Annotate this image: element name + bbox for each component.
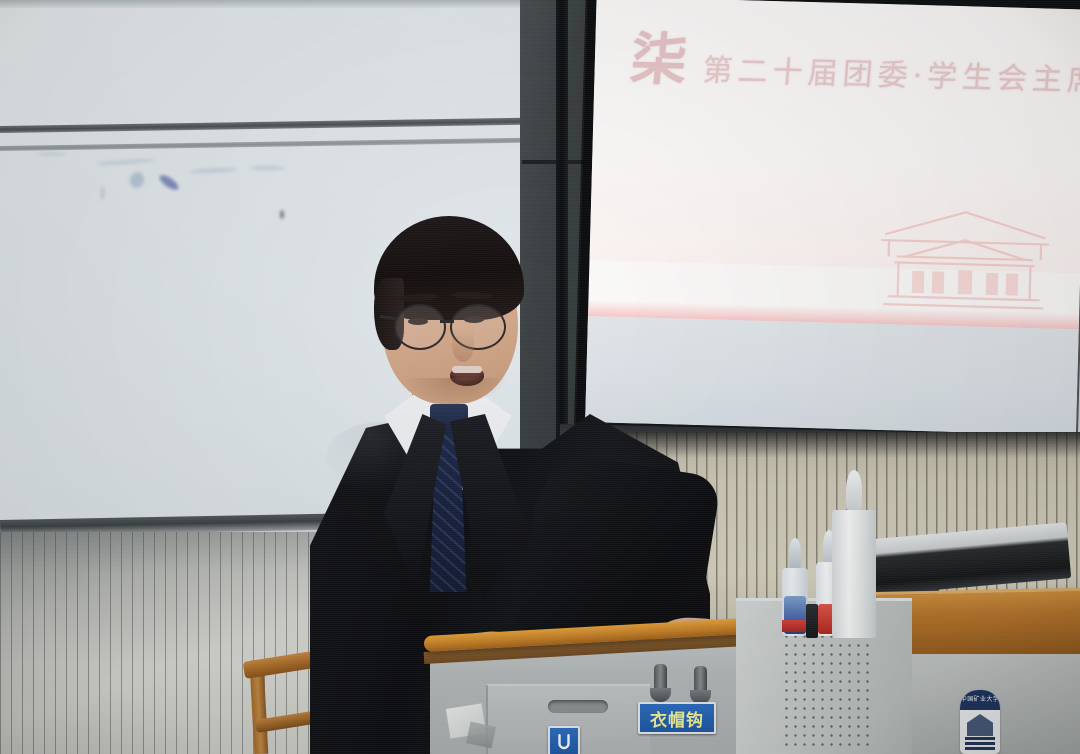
chair-back-post: [250, 666, 269, 754]
bottle-cap: [846, 470, 862, 510]
tall-white-bottle: [832, 474, 876, 638]
coat-hook-sign: 衣帽钩: [638, 702, 716, 734]
teeth: [452, 366, 482, 373]
bottle-label-band: [782, 620, 808, 632]
badge-gate-icon: [967, 714, 993, 736]
whiteboard-top-edge: [0, 0, 560, 8]
eyeglass-lens-left: [394, 304, 446, 350]
tiananmen-gate-icon: [873, 200, 1056, 325]
lectern-speaker-grill: [782, 632, 874, 752]
hook-pictogram-sign: [548, 726, 580, 754]
coat-hook-sign-label: 衣帽钩: [650, 706, 704, 731]
eyeglass-bridge: [440, 320, 454, 323]
nose: [452, 328, 474, 362]
marker-smudge: [100, 186, 105, 200]
dark-marker-pen: [806, 604, 818, 638]
bottle-body: [832, 510, 876, 638]
whiteboard-rail-lower: [0, 137, 560, 151]
marker-smudge: [96, 158, 156, 166]
marker-smudge: [190, 167, 238, 175]
slide-numeral: 柒: [628, 31, 691, 88]
badge-cap: 中国矿业大学: [960, 690, 1000, 710]
marker-smudge: [157, 173, 180, 193]
blue-liquid-bottle: [782, 540, 808, 636]
marker-smudge: [128, 170, 147, 190]
marker-smudge: [250, 166, 286, 170]
bottle-cap: [789, 538, 801, 568]
lectern-handle: [548, 700, 608, 713]
institution-badge-sticker: 中国矿业大学: [960, 690, 1000, 754]
chin-shadow: [404, 378, 508, 404]
coat-hook: [654, 664, 667, 698]
badge-steps-graphic: [965, 736, 995, 750]
badge-institution-text: 中国矿业大学: [960, 690, 1000, 710]
marker-smudge: [36, 152, 66, 156]
coat-hook: [694, 666, 707, 700]
whiteboard-rail-upper: [0, 117, 560, 133]
hook-pictogram-icon: [555, 733, 573, 751]
photo-scene: 柒 第二十届团委·学生会主席团代表 中国矿业大学: [0, 0, 1080, 754]
marker-smudge: [280, 210, 284, 219]
